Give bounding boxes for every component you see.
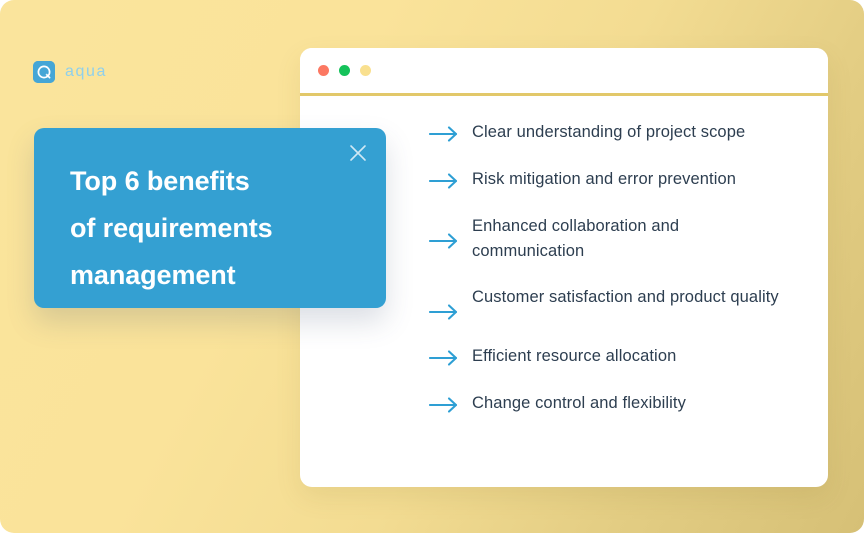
callout-card: Top 6 benefits of requirements managemen…: [34, 128, 386, 308]
page-title-line: Top 6 benefits: [70, 158, 360, 205]
list-item-label: Clear understanding of project scope: [472, 120, 745, 145]
page-title: Top 6 benefits of requirements managemen…: [70, 158, 360, 299]
window-titlebar: [300, 48, 828, 93]
page-title-line: management: [70, 252, 360, 299]
list-item[interactable]: Efficient resource allocation: [429, 344, 809, 369]
benefits-list: Clear understanding of project scope Ris…: [429, 120, 809, 416]
window-close-dot[interactable]: [318, 65, 329, 76]
arrow-right-icon: [429, 394, 463, 416]
page-title-line: of requirements: [70, 205, 360, 252]
brand-logo-text: aqua: [65, 63, 107, 81]
arrow-right-icon: [429, 170, 463, 192]
slide-canvas: Clear understanding of project scope Ris…: [0, 0, 864, 533]
close-icon[interactable]: [347, 142, 369, 164]
brand-logo[interactable]: aqua: [33, 61, 107, 83]
window-maximize-dot[interactable]: [360, 65, 371, 76]
aqua-logo-mark-icon: [33, 61, 55, 83]
list-item-label: Efficient resource allocation: [472, 344, 676, 369]
list-item-label: Customer satisfaction and product qualit…: [472, 285, 779, 310]
list-item[interactable]: Enhanced collaboration and communication: [429, 214, 809, 264]
window-minimize-dot[interactable]: [339, 65, 350, 76]
arrow-right-icon: [429, 123, 463, 145]
list-item[interactable]: Change control and flexibility: [429, 391, 809, 416]
list-item-label: Change control and flexibility: [472, 391, 686, 416]
list-item[interactable]: Clear understanding of project scope: [429, 120, 809, 145]
list-item-label: Risk mitigation and error prevention: [472, 167, 736, 192]
arrow-right-icon: [429, 347, 463, 369]
list-item[interactable]: Risk mitigation and error prevention: [429, 167, 809, 192]
window-divider: [300, 93, 828, 96]
list-item-label: Enhanced collaboration and communication: [472, 214, 730, 264]
arrow-right-icon: [429, 230, 463, 252]
arrow-right-icon: [429, 301, 463, 323]
list-item[interactable]: Customer satisfaction and product qualit…: [429, 285, 809, 323]
